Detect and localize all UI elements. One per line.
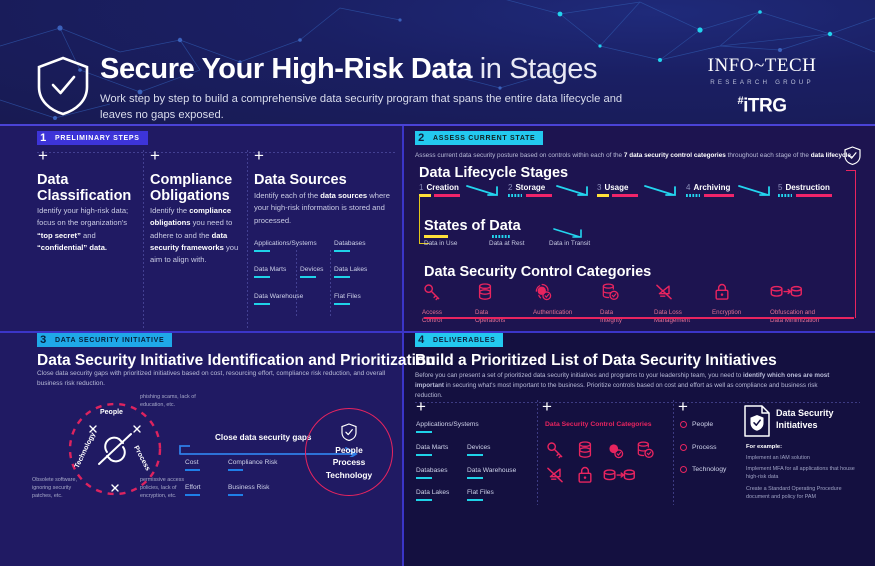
gap-cell-cost: Cost [185, 459, 200, 471]
deliverable-ppt-process-label: Process [692, 444, 717, 451]
category-authentication: Authentication [533, 282, 597, 317]
logo-itrg: #iTRG [677, 95, 847, 117]
heading-section-4: Build a Prioritized List of Data Securit… [415, 352, 777, 370]
deliverable-ppt-people: People [680, 421, 713, 428]
badge-section-1: 1 PRELIMINARY STEPS [37, 131, 148, 145]
note-people: phishing scams, lack of education, etc. [140, 393, 196, 409]
infographic-page: Secure Your High-Risk Data in Stages Wor… [0, 0, 875, 566]
heading-data-lifecycle-stages: Data Lifecycle Stages [419, 165, 568, 181]
page-header: Secure Your High-Risk Data in Stages Wor… [0, 0, 875, 126]
database-transform-icon [770, 282, 802, 302]
source-tag-databases: Databases [334, 240, 366, 252]
deliverable-ppt-technology-label: Technology [692, 466, 726, 473]
source-grid-line-1 [296, 250, 297, 316]
arrow-stage-2-3-icon [556, 184, 594, 198]
column-separator-1 [143, 150, 144, 330]
state-3-arrow-icon [553, 228, 587, 239]
badge-4-number: 4 [415, 333, 428, 347]
no-leak-icon [654, 282, 674, 302]
heading-control-categories: Data Security Control Categories [424, 264, 651, 280]
logo-infotech: INFO~TECH [677, 55, 847, 77]
deliverables-separator-2 [673, 400, 674, 505]
badge-1-number: 1 [37, 131, 50, 145]
ppt-circle-process: Process [333, 456, 366, 468]
stage-5-bar-pink [796, 194, 832, 197]
source-tag-data-lakes: Data Lakes [334, 266, 367, 278]
plus-icon-4: + [416, 398, 426, 415]
fingerprint-check-icon [533, 282, 553, 302]
stage-4-number: 4 [686, 183, 690, 192]
state-data-at-rest: Data at Rest [489, 240, 525, 247]
vertical-divider [402, 126, 404, 566]
stage-5-number: 5 [778, 183, 782, 192]
database-icon [475, 282, 495, 302]
no-leak-icon-small [545, 465, 565, 485]
title-block: Secure Your High-Risk Data in Stages Wor… [100, 54, 660, 123]
badge-4-label: DELIVERABLES [433, 337, 495, 344]
deliverable-ppt-process: Process [680, 444, 717, 451]
doc-title-line1: Data Security [776, 408, 834, 418]
stage-storage: 2Storage [508, 183, 545, 192]
source-grid-line-2 [330, 250, 331, 316]
example-item-2: Implement MFA for all applications that … [746, 466, 864, 482]
page-title: Secure Your High-Risk Data in Stages [100, 54, 660, 85]
brand-logo: INFO~TECH RESEARCH GROUP #iTRG [677, 55, 847, 117]
stage-destruction: 5Destruction [778, 183, 830, 192]
source-tag-devices: Devices [300, 266, 323, 278]
badge-1-label: PRELIMINARY STEPS [55, 135, 140, 142]
stage-4-name: Archiving [693, 183, 730, 192]
database-check-icon-small [635, 440, 655, 460]
stage-4-bar-dots [686, 194, 700, 197]
badge-section-4: 4 DELIVERABLES [415, 333, 503, 347]
badge-3-label: DATA SECURITY INITIATIVE [55, 337, 164, 344]
deliverable-databases: Databases [416, 467, 448, 479]
stage-2-name: Storage [515, 183, 545, 192]
heading-states-of-data: States of Data [424, 218, 521, 234]
col-title-data-sources: Data Sources [254, 172, 394, 188]
body-section-4: Before you can present a set of prioriti… [415, 371, 835, 401]
stage-2-bar-pink [526, 194, 552, 197]
deliverable-ppt-people-label: People [692, 421, 713, 428]
technology-dot-icon [680, 466, 687, 473]
plus-icon-3: + [254, 147, 264, 164]
database-icon-small [575, 440, 595, 460]
stage-5-name: Destruction [785, 183, 829, 192]
ppt-circle: People Process Technology [305, 408, 393, 496]
key-icon [422, 282, 442, 302]
heading-section-3: Data Security Initiative Identification … [37, 352, 435, 370]
document-shield-icon [744, 405, 770, 437]
deliverable-flat-files: Flat Files [467, 489, 494, 501]
database-transform-icon-small [603, 466, 635, 485]
state-1-bar [424, 235, 448, 238]
example-heading: For example: [746, 444, 782, 450]
plus-icon-2: + [150, 147, 160, 164]
stage-1-name: Creation [426, 183, 458, 192]
database-check-icon [600, 282, 620, 302]
stage-3-bar-pink [612, 194, 638, 197]
col-2-line2: Obligations [150, 188, 230, 204]
badge-2-label: ASSESS CURRENT STATE [433, 135, 535, 142]
gap-cell-business-risk: Business Risk [228, 484, 269, 496]
lock-icon-small [575, 465, 595, 485]
state-data-in-transit: Data in Transit [549, 240, 590, 247]
arrow-stage-4-5-icon [738, 184, 776, 198]
stage-archiving: 4Archiving [686, 183, 730, 192]
source-tag-applications-systems: Applications/Systems [254, 240, 317, 252]
note-technology: Obsolete software, ignoring security pat… [32, 476, 88, 500]
process-dot-icon [680, 444, 687, 451]
category-data-loss-management: Data LossManagement [654, 282, 718, 326]
page-title-bold: Secure Your High-Risk Data [100, 53, 472, 85]
badge-2-number: 2 [415, 131, 428, 145]
example-item-1: Implement an IAM solution [746, 455, 864, 463]
stage-3-number: 3 [597, 183, 601, 192]
stage-5-bar-dots [778, 194, 792, 197]
stage-2-bar-dots [508, 194, 522, 197]
col-title-data-classification: DataClassification [37, 172, 137, 204]
deliverables-categories-heading: Data Security Control Categories [545, 421, 652, 428]
stage-usage: 3Usage [597, 183, 628, 192]
stage-3-bar-yellow [597, 194, 609, 197]
ppt-circle-people: People [335, 444, 362, 456]
category-encryption: Encryption [712, 282, 776, 317]
arrow-stage-3-4-icon [644, 184, 682, 198]
col-2-line1: Compliance [150, 172, 232, 188]
col-title-compliance-obligations: ComplianceObligations [150, 172, 250, 204]
logo-itrg-text: iTRG [743, 95, 786, 116]
col-1-line2: Classification [37, 188, 131, 204]
stage-3-name: Usage [604, 183, 628, 192]
example-item-3: Create a Standard Operating Procedure do… [746, 486, 864, 502]
page-title-thin: in Stages [480, 53, 597, 85]
shield-check-icon-circle [341, 423, 357, 441]
deliverable-data-warehouse: Data Warehouse [467, 467, 516, 479]
col-body-data-sources: Identify each of the data sources where … [254, 190, 390, 227]
doc-title-line2: Initiatives [776, 420, 818, 430]
page-subtitle: Work step by step to build a comprehensi… [100, 91, 645, 123]
stage-2-number: 2 [508, 183, 512, 192]
gap-cell-effort: Effort [185, 484, 201, 496]
plus-icon-6: + [678, 398, 688, 415]
badge-3-number: 3 [37, 333, 50, 347]
badge-section-2: 2 ASSESS CURRENT STATE [415, 131, 543, 145]
deliverable-ppt-technology: Technology [680, 466, 726, 473]
stage-1-number: 1 [419, 183, 423, 192]
lock-icon [712, 282, 732, 302]
badge-section-3: 3 DATA SECURITY INITIATIVE [37, 333, 172, 347]
fingerprint-check-icon-small [605, 440, 625, 460]
gaps-heading: Close data security gaps [215, 433, 311, 442]
broken-link-icon [93, 428, 137, 470]
deliverable-data-marts: Data Marts [416, 444, 448, 456]
pink-bracket [846, 170, 856, 318]
deliverable-data-lakes: Data Lakes [416, 489, 449, 501]
deliverable-applications-systems: Applications/Systems [416, 421, 479, 433]
body-section-3: Close data security gaps with prioritize… [37, 369, 392, 390]
ppt-circle-technology: Technology [326, 469, 372, 481]
deliverable-devices: Devices [467, 444, 490, 456]
plus-icon-5: + [542, 398, 552, 415]
arrow-stage-1-2-icon [466, 184, 504, 198]
section2-intro: Assess current data security posture bas… [415, 151, 865, 161]
stage-creation: 1Creation [419, 183, 459, 192]
stage-4-bar-pink [704, 194, 734, 197]
category-obfuscation: Obfuscation andData Minimization [770, 282, 850, 326]
category-data-operations: DataOperations [475, 282, 539, 326]
col-body-compliance-obligations: Identify the compliance obligations you … [150, 205, 242, 266]
plus-icon-1: + [38, 147, 48, 164]
state-2-bar [492, 235, 510, 238]
section1-top-rule [37, 152, 397, 153]
deliverable-doc-title: Data SecurityInitiatives [776, 408, 834, 431]
col-3-line1: Data Sources [254, 172, 347, 188]
stage-1-bar-pink [434, 194, 460, 197]
gap-cell-compliance-risk: Compliance Risk [228, 459, 277, 471]
section2-pink-rule [424, 317, 854, 319]
logo-research-group: RESEARCH GROUP [677, 79, 847, 86]
state-data-in-use: Data in Use [424, 240, 457, 247]
col-1-line1: Data [37, 172, 68, 188]
deliverables-top-rule [415, 402, 860, 403]
shield-check-icon [35, 55, 91, 117]
source-tag-flat-files: Flat Files [334, 293, 361, 305]
source-tag-data-marts: Data Marts [254, 266, 286, 278]
key-icon-small [545, 440, 565, 460]
people-dot-icon [680, 421, 687, 428]
col-body-data-classification: Identify your high-risk data; focus on t… [37, 205, 135, 254]
ring-label-people: People [100, 409, 123, 416]
deliverables-separator-1 [537, 400, 538, 505]
